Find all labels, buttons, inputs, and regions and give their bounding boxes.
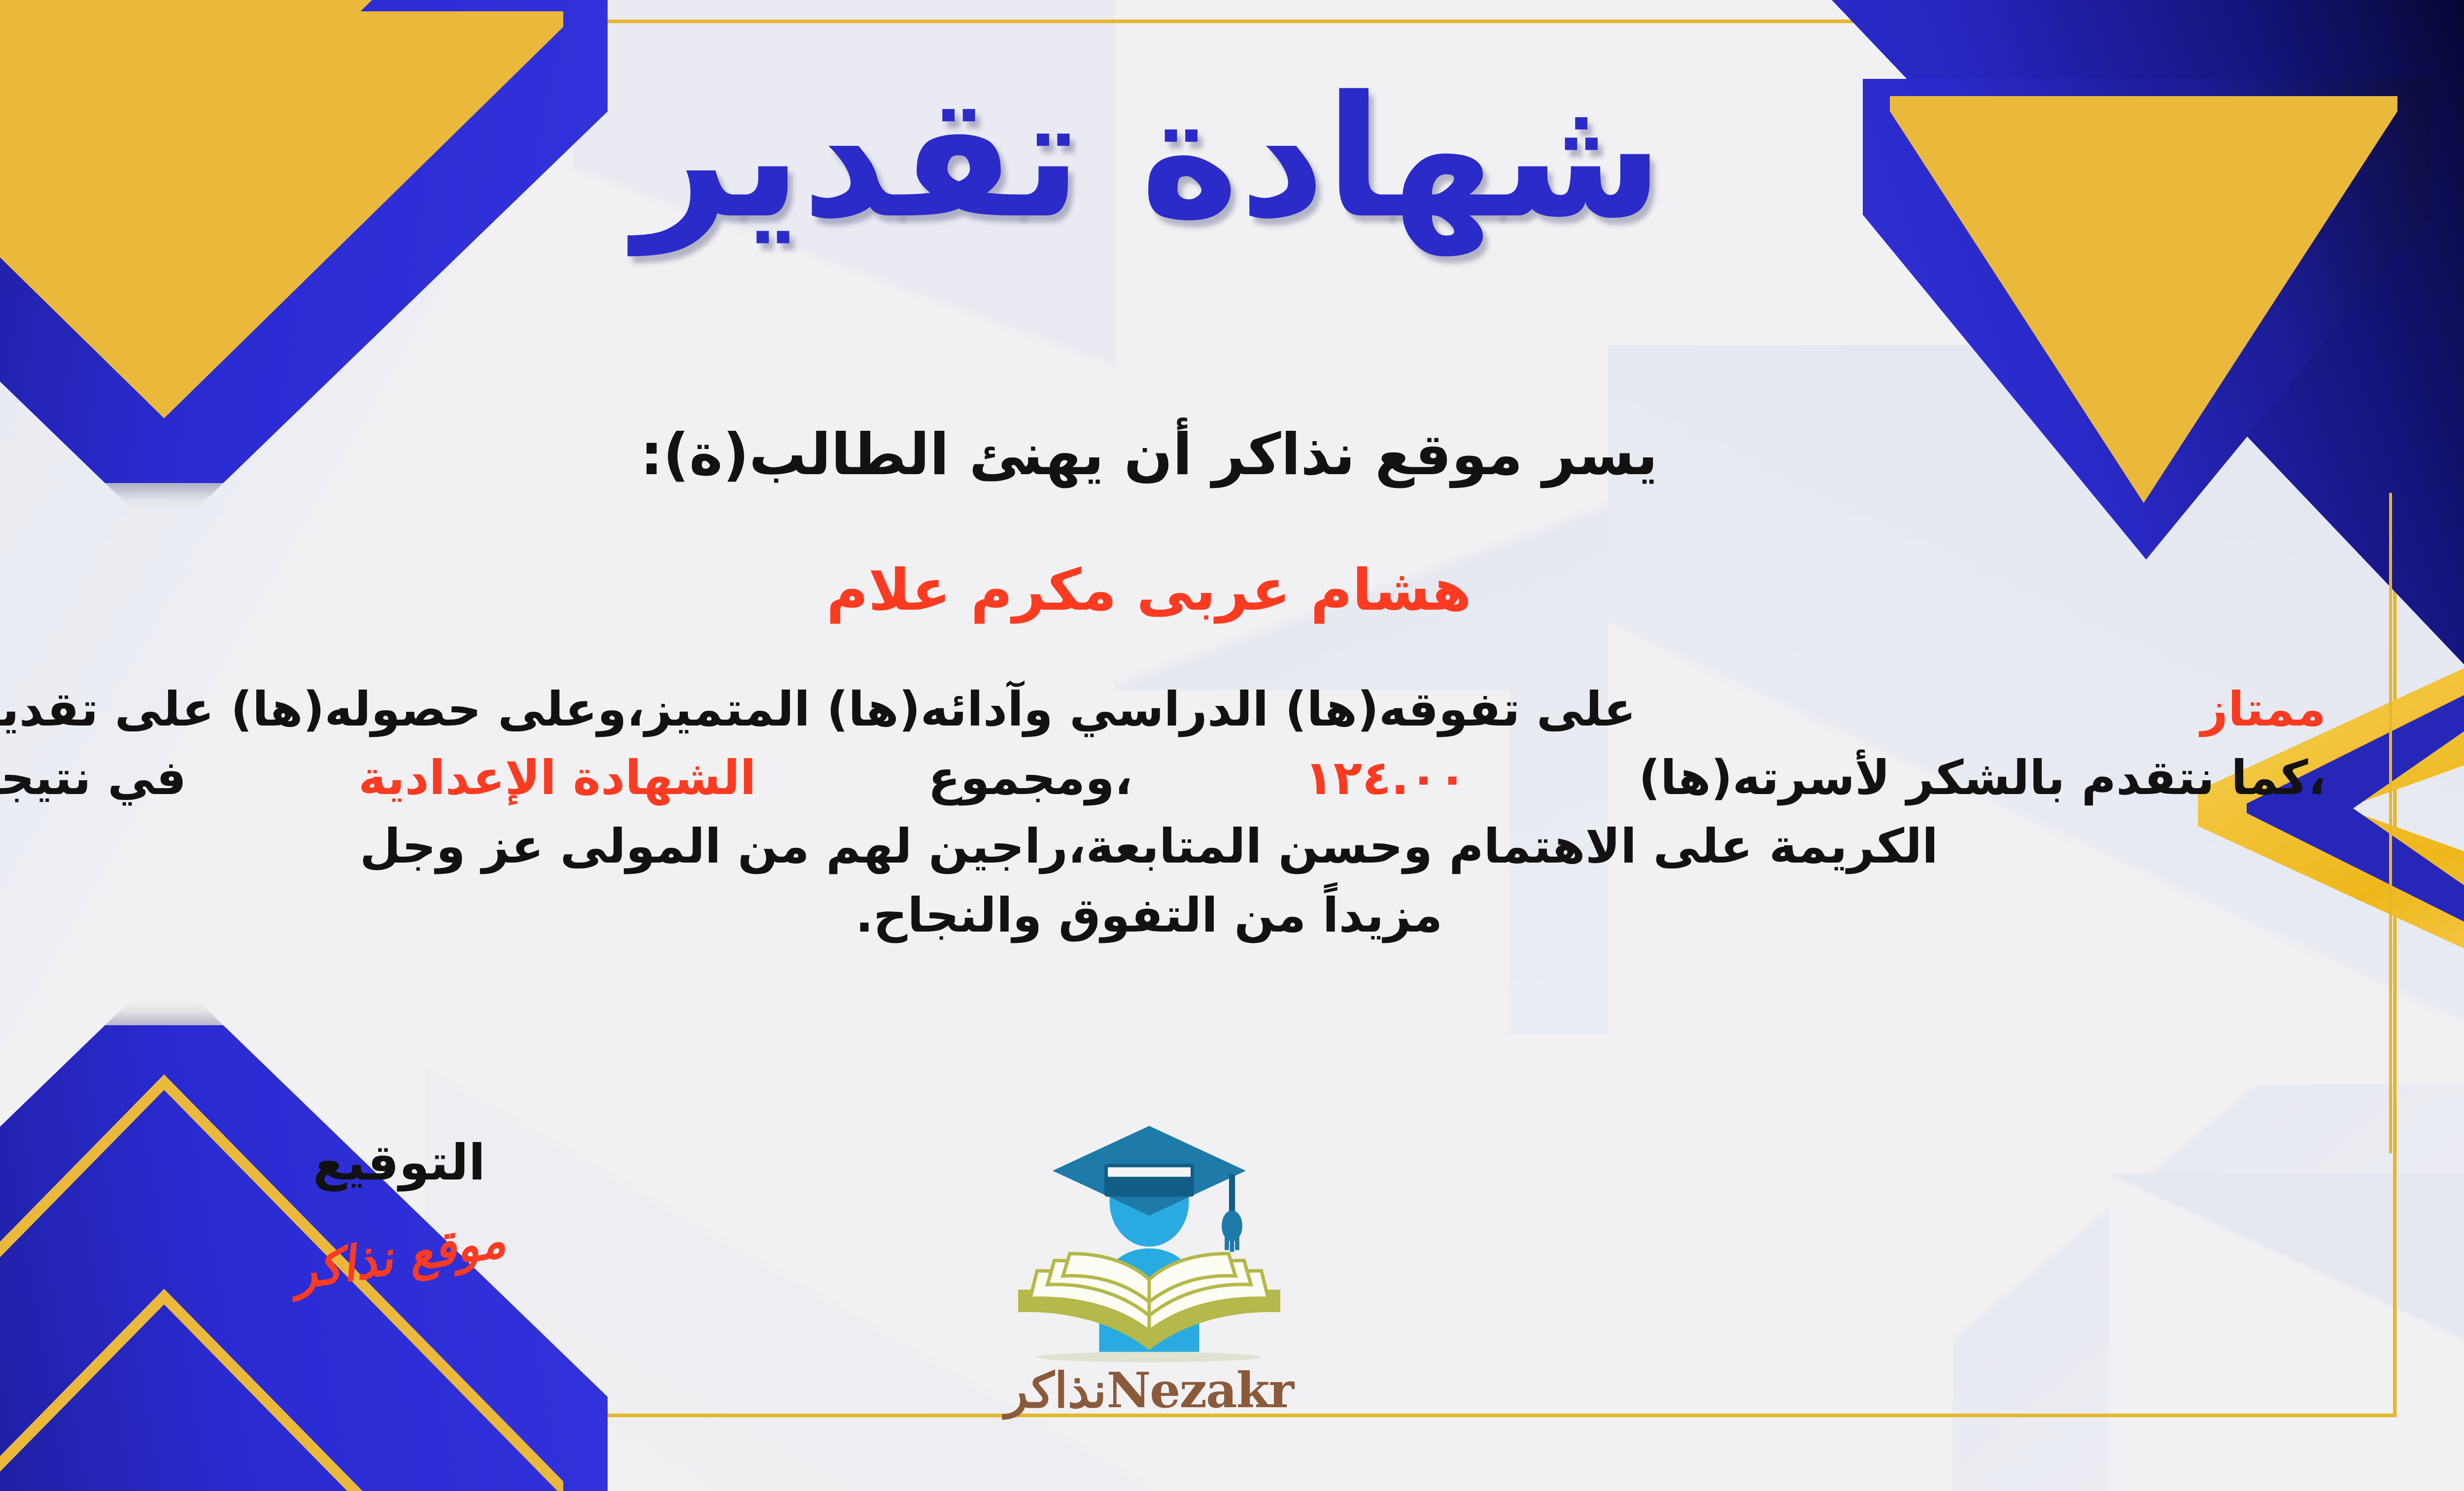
body-line-3: الكريمة على الاهتمام وحسن المتابعة،راجين…: [0, 812, 2326, 881]
logo-name-arabic: نذاكر: [1005, 1362, 1107, 1419]
exam-name: الشهادة الإعدادية: [358, 744, 756, 812]
certificate-content: شهادة تقدير يسر موقع نذاكر أن يهنئ الطال…: [0, 0, 2464, 1491]
body-line-2: ،كما نتقدم بالشكر لأسرته(ها) ١٢٤.٠٠ ،ومج…: [0, 744, 2326, 812]
greeting-line: يسر موقع نذاكر أن يهنئ الطالب(ة):: [0, 421, 2464, 488]
body-line-2-mid: ،ومجموع: [928, 744, 1132, 812]
logo-wordmark: Nezakrنذاكر: [937, 1362, 1361, 1419]
logo-name-latin: Nezakr: [1107, 1362, 1294, 1419]
body-line-2-tail: ،كما نتقدم بالشكر لأسرته(ها): [1639, 744, 2326, 812]
body-line-1-text: على تفوقه(ها) الدراسي وآدائه(ها) المتميز…: [0, 675, 1636, 744]
student-name: هشام عربى مكرم علام: [0, 557, 2464, 624]
total-score: ١٢٤.٠٠: [1304, 744, 1467, 812]
site-logo: Nezakrنذاكر: [0, 1119, 2464, 1419]
body-line-2-head: في نتيجة: [0, 744, 186, 812]
body-line-4: مزيداً من التفوق والنجاح.: [0, 881, 2326, 950]
certificate-canvas: شهادة تقدير يسر موقع نذاكر أن يهنئ الطال…: [0, 0, 2464, 1491]
certificate-title: شهادة تقدير: [0, 74, 2464, 242]
body-line-1: ممتاز على تفوقه(ها) الدراسي وآدائه(ها) ا…: [0, 675, 2326, 744]
logo-graphic: [977, 1119, 1322, 1369]
certificate-body: ممتاز على تفوقه(ها) الدراسي وآدائه(ها) ا…: [0, 675, 2326, 950]
grade-value: ممتاز: [2201, 675, 2326, 744]
